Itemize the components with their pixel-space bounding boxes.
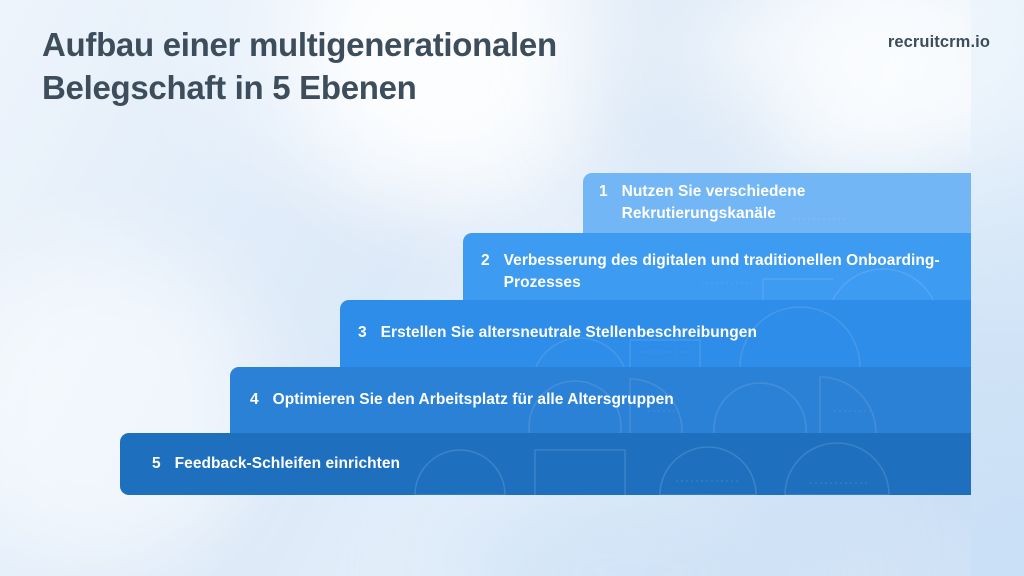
step-bar-5[interactable]: 5 Feedback-Schleifen einrichten bbox=[120, 433, 971, 495]
step-label-1: Nutzen Sie verschiedene Rekrutierungskan… bbox=[622, 181, 949, 226]
step-bar-4[interactable]: 4 Optimieren Sie den Arbeitsplatz für al… bbox=[230, 367, 971, 433]
staircase-chart: 5 Feedback-Schleifen einrichten bbox=[0, 0, 1024, 576]
step-number-1: 1 bbox=[599, 181, 608, 203]
step-bar-2[interactable]: 2 Verbesserung des digitalen und traditi… bbox=[463, 233, 971, 300]
step-number-5: 5 bbox=[152, 453, 161, 475]
step-label-2: Verbesserung des digitalen und tradition… bbox=[504, 250, 945, 295]
infographic-canvas: Aufbau einer multigenerationalen Belegsc… bbox=[0, 0, 1024, 576]
step-label-3: Erstellen Sie altersneutrale Stellenbesc… bbox=[381, 322, 757, 344]
step-bar-3[interactable]: 3 Erstellen Sie altersneutrale Stellenbe… bbox=[340, 300, 971, 367]
step-number-3: 3 bbox=[358, 322, 367, 344]
step-label-4: Optimieren Sie den Arbeitsplatz für alle… bbox=[273, 389, 674, 411]
step-bar-1[interactable]: 1 Nutzen Sie verschiedene Rekrutierungsk… bbox=[583, 173, 971, 233]
step-number-2: 2 bbox=[481, 250, 490, 272]
step-label-5: Feedback-Schleifen einrichten bbox=[175, 453, 400, 475]
step-number-4: 4 bbox=[250, 389, 259, 411]
